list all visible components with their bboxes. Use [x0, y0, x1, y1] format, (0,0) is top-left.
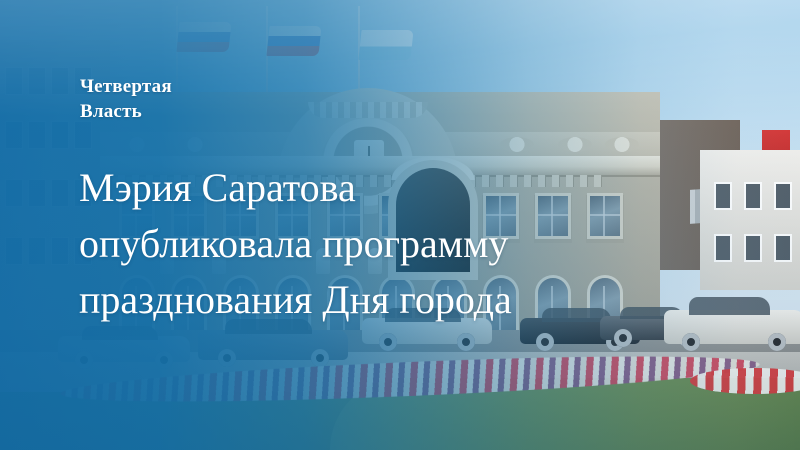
headline-line-2: опубликовала программу	[79, 216, 699, 272]
site-logo-line-2: Власть	[80, 99, 172, 124]
site-logo-line-1: Четвертая	[80, 74, 172, 99]
headline-line-3: празднования Дня города	[79, 272, 699, 328]
social-share-card: Четвертая Власть Мэрия Саратова опублико…	[0, 0, 800, 450]
article-headline[interactable]: Мэрия Саратова опубликовала программу пр…	[79, 160, 699, 328]
card-content: Четвертая Власть Мэрия Саратова опублико…	[0, 0, 800, 450]
site-logo[interactable]: Четвертая Власть	[80, 74, 172, 124]
headline-line-1: Мэрия Саратова	[79, 160, 699, 216]
